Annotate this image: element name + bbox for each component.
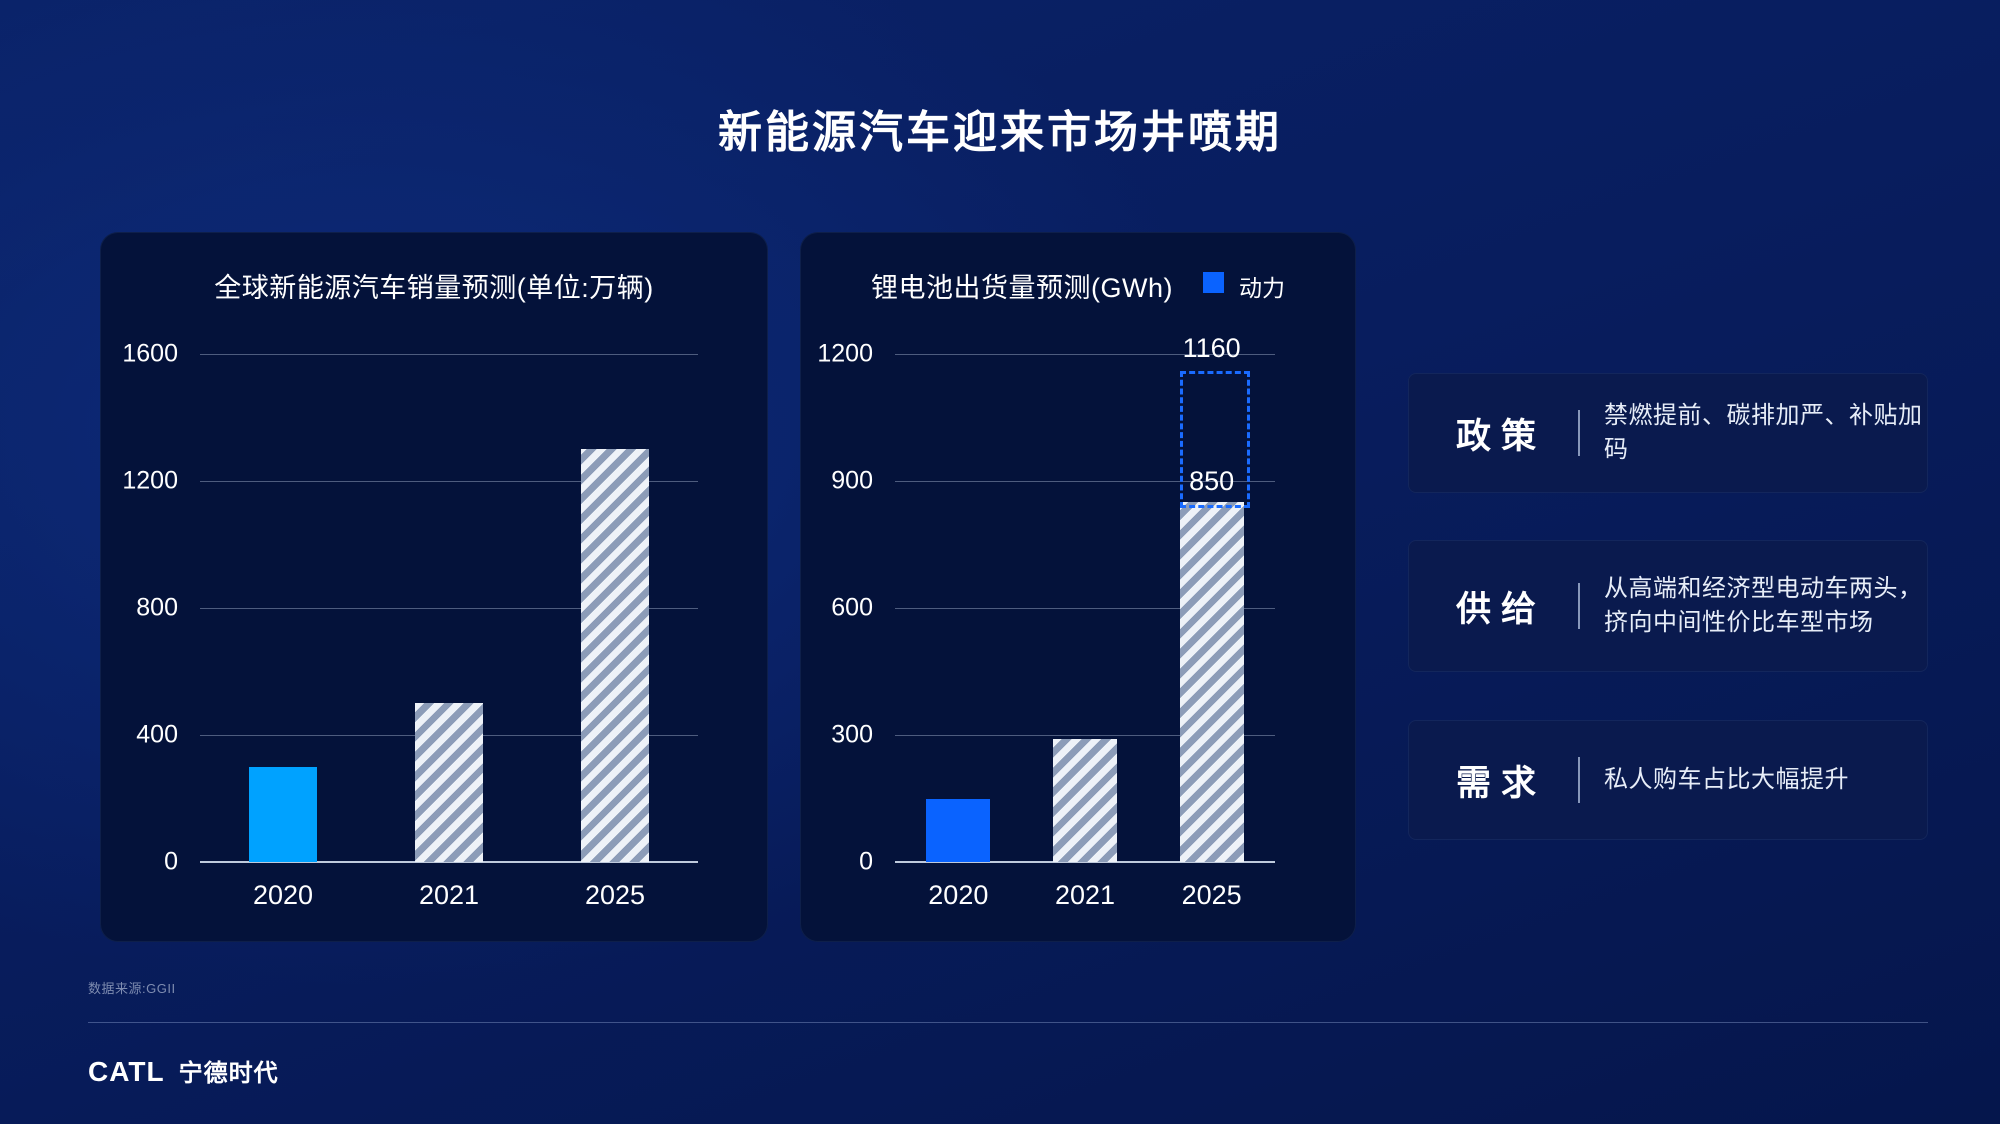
chart-header-left: 全球新能源汽车销量预测(单位:万辆)	[100, 266, 768, 305]
forecast-range-box	[1180, 371, 1250, 508]
y-axis-tick-label: 0	[859, 848, 873, 877]
source-note: 数据来源:GGII	[88, 978, 176, 997]
plot-area-ev-sales: 040080012001600202020212025	[200, 354, 698, 862]
bar	[415, 703, 483, 862]
bar	[1180, 502, 1244, 862]
y-axis-tick-label: 800	[136, 594, 178, 623]
page-title: 新能源汽车迎来市场井喷期	[0, 96, 2000, 160]
info-card-demand: 需求 私人购车占比大幅提升	[1408, 720, 1928, 840]
catl-logo: CATL 宁德时代	[88, 1053, 279, 1088]
info-card-key: 政策	[1456, 408, 1574, 459]
y-axis-tick-label: 1600	[122, 340, 178, 369]
chart-panel-battery-shipments: 锂电池出货量预测(GWh) 动力 03006009001200202020212…	[800, 232, 1356, 942]
y-axis-tick-label: 1200	[122, 467, 178, 496]
info-card-text: 禁燃提前、碳排加严、补贴加码	[1604, 399, 1928, 467]
x-axis-tick-label: 2021	[1055, 880, 1115, 911]
bar	[249, 767, 317, 862]
divider	[1578, 583, 1580, 629]
bar	[1053, 739, 1117, 862]
chart-title-ev-sales: 全球新能源汽车销量预测(单位:万辆)	[214, 273, 653, 303]
y-axis-tick-label: 400	[136, 721, 178, 750]
divider	[1578, 757, 1580, 803]
forecast-value-label: 1160	[1183, 333, 1241, 364]
x-axis-tick-label: 2020	[253, 880, 313, 911]
y-axis-tick-label: 0	[164, 848, 178, 877]
x-axis-tick-label: 2020	[928, 880, 988, 911]
chart-title-battery-shipments: 锂电池出货量预测(GWh)	[871, 273, 1173, 303]
legend-label: 动力	[1239, 275, 1285, 301]
slide-root: 新能源汽车迎来市场井喷期 全球新能源汽车销量预测(单位:万辆) 04008001…	[0, 0, 2000, 1124]
info-card-policy: 政策 禁燃提前、碳排加严、补贴加码	[1408, 373, 1928, 493]
chart-header-right: 锂电池出货量预测(GWh) 动力	[800, 266, 1356, 305]
x-axis-tick-label: 2025	[585, 880, 645, 911]
x-axis-tick-label: 2021	[419, 880, 479, 911]
y-axis-tick-label: 600	[831, 594, 873, 623]
footer-divider	[88, 1022, 1928, 1023]
bar	[581, 449, 649, 862]
divider	[1578, 410, 1580, 456]
chart-panel-ev-sales: 全球新能源汽车销量预测(单位:万辆) 040080012001600202020…	[100, 232, 768, 942]
y-axis-tick-label: 1200	[817, 340, 873, 369]
info-card-key: 需求	[1456, 755, 1574, 806]
y-axis-tick-label: 300	[831, 721, 873, 750]
plot-area-battery-shipments: 030060090012002020202120258501160	[895, 354, 1275, 862]
y-axis-tick-label: 900	[831, 467, 873, 496]
info-card-key: 供给	[1456, 581, 1574, 632]
chart-legend: 动力	[1203, 269, 1284, 303]
bar	[926, 799, 990, 863]
legend-swatch-icon	[1203, 272, 1224, 293]
gridline	[200, 354, 698, 355]
logo-latin-text: CATL	[88, 1056, 165, 1088]
logo-cn-text: 宁德时代	[179, 1053, 279, 1088]
info-card-text: 私人购车占比大幅提升	[1604, 763, 1849, 797]
x-axis-tick-label: 2025	[1182, 880, 1242, 911]
info-card-text: 从高端和经济型电动车两头， 挤向中间性价比车型市场	[1604, 572, 1923, 640]
info-card-supply: 供给 从高端和经济型电动车两头， 挤向中间性价比车型市场	[1408, 540, 1928, 672]
